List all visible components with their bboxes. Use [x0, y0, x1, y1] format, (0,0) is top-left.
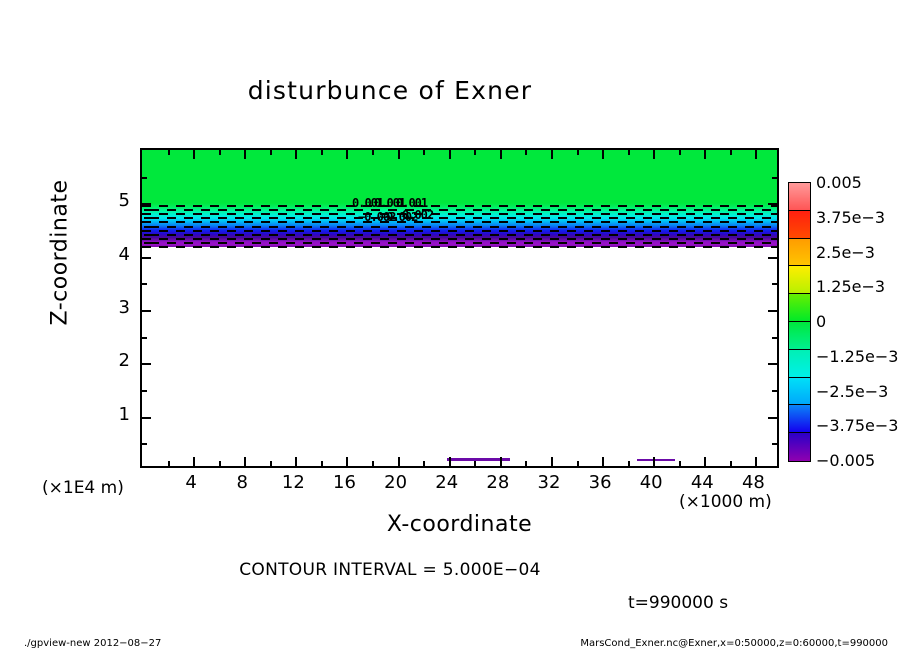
colorbar-tick-label: 0	[816, 312, 826, 331]
colorbar-band	[789, 266, 810, 294]
y-tick-left	[142, 257, 151, 259]
y-tick-right	[772, 390, 777, 392]
x-tick-label: 12	[273, 472, 313, 493]
colorbar-band	[789, 433, 810, 461]
contour-line	[142, 238, 777, 240]
x-tick-top	[755, 150, 757, 159]
x-tick-bottom	[270, 461, 272, 466]
x-tick-top	[244, 150, 246, 159]
x-tick-label: 44	[682, 472, 722, 493]
colorbar-band	[789, 239, 810, 267]
x-tick-bottom	[602, 457, 604, 466]
x-tick-top	[628, 150, 630, 155]
field-region-uniform	[142, 150, 777, 203]
y-tick-label: 3	[100, 297, 130, 318]
x-tick-top	[193, 150, 195, 159]
colorbar-band	[789, 350, 810, 378]
x-tick-label: 4	[171, 472, 211, 493]
x-tick-bottom	[551, 457, 553, 466]
y-tick-label: 2	[100, 350, 130, 371]
y-axis-label: Z-coordinate	[48, 153, 73, 353]
x-tick-bottom	[653, 457, 655, 466]
footer-source: MarsCond_Exner.nc@Exner,x=0:50000,z=0:60…	[580, 638, 888, 649]
contour-line	[142, 213, 777, 215]
x-tick-top	[270, 150, 272, 155]
colorbar-band	[789, 183, 810, 211]
plot-area[interactable]: 0.0010.0010.001−0.002−0.0020.002	[140, 148, 779, 468]
y-tick-left	[142, 310, 151, 312]
x-tick-bottom	[193, 457, 195, 466]
contour-line	[142, 234, 777, 236]
x-tick-top	[295, 150, 297, 159]
x-tick-top	[346, 150, 348, 159]
y-tick-left	[142, 283, 147, 285]
x-tick-bottom	[704, 457, 706, 466]
y-tick-right	[772, 177, 777, 179]
x-tick-label: 32	[529, 472, 569, 493]
x-tick-top	[551, 150, 553, 159]
x-tick-top	[577, 150, 579, 155]
contour-line	[142, 242, 777, 244]
contour-line	[142, 209, 777, 211]
x-tick-top	[219, 150, 221, 155]
timestamp-text: t=990000 s	[628, 593, 728, 613]
x-tick-top	[653, 150, 655, 159]
x-tick-bottom	[398, 457, 400, 466]
contour-line	[142, 221, 777, 223]
x-axis-unit: (×1000 m)	[679, 492, 772, 512]
x-tick-bottom	[577, 461, 579, 466]
colorbar-tick-label: −3.75e−3	[816, 416, 898, 435]
y-tick-label: 5	[100, 190, 130, 211]
x-tick-bottom	[474, 461, 476, 466]
contour-line	[142, 217, 777, 219]
x-tick-top	[423, 150, 425, 155]
x-tick-bottom	[295, 457, 297, 466]
colorbar-tick-label: 1.25e−3	[816, 277, 885, 296]
x-tick-top	[525, 150, 527, 155]
colorbar-band	[789, 322, 810, 350]
x-tick-bottom	[730, 461, 732, 466]
y-tick-left	[142, 363, 151, 365]
x-tick-label: 48	[733, 472, 773, 493]
x-tick-bottom	[628, 461, 630, 466]
x-tick-top	[500, 150, 502, 159]
x-tick-bottom	[679, 461, 681, 466]
x-tick-bottom	[372, 461, 374, 466]
x-tick-label: 20	[376, 472, 416, 493]
y-tick-left	[142, 203, 151, 205]
colorbar-band	[789, 211, 810, 239]
colorbar-tick-label: −2.5e−3	[816, 382, 888, 401]
contour-interval-text: CONTOUR INTERVAL = 5.000E−04	[0, 560, 780, 580]
x-tick-bottom	[168, 461, 170, 466]
y-tick-label: 1	[100, 404, 130, 425]
colorbar[interactable]	[788, 182, 811, 462]
page-title: disturbunce of Exner	[0, 76, 780, 105]
colorbar-tick-label: 2.5e−3	[816, 243, 875, 262]
y-tick-left	[142, 230, 147, 232]
x-tick-top	[168, 150, 170, 155]
y-tick-right	[768, 203, 777, 205]
y-tick-right	[772, 337, 777, 339]
y-tick-right	[768, 310, 777, 312]
y-tick-right	[772, 283, 777, 285]
surface-bump-b	[637, 459, 675, 461]
x-tick-top	[449, 150, 451, 159]
x-tick-label: 28	[478, 472, 518, 493]
x-tick-bottom	[525, 461, 527, 466]
x-tick-bottom	[244, 457, 246, 466]
y-tick-left	[142, 337, 147, 339]
x-tick-bottom	[346, 457, 348, 466]
y-tick-right	[768, 417, 777, 419]
x-tick-top	[398, 150, 400, 159]
colorbar-tick-label: −0.005	[816, 451, 875, 470]
x-tick-top	[730, 150, 732, 155]
x-tick-label: 8	[222, 472, 262, 493]
x-tick-label: 16	[324, 472, 364, 493]
x-tick-bottom	[321, 461, 323, 466]
colorbar-band	[789, 294, 810, 322]
x-tick-top	[474, 150, 476, 155]
x-tick-bottom	[219, 461, 221, 466]
colorbar-tick-label: 0.005	[816, 173, 862, 192]
y-tick-right	[768, 257, 777, 259]
y-tick-right	[772, 230, 777, 232]
x-tick-top	[679, 150, 681, 155]
y-tick-left	[142, 443, 147, 445]
x-tick-bottom	[449, 457, 451, 466]
y-tick-left	[142, 390, 147, 392]
colorbar-tick-label: 3.75e−3	[816, 208, 885, 227]
colorbar-band	[789, 405, 810, 433]
x-tick-bottom	[423, 461, 425, 466]
y-tick-label: 4	[100, 244, 130, 265]
footer-command: ./gpview-new 2012−08−27	[24, 638, 161, 649]
y-tick-right	[768, 363, 777, 365]
contour-line	[142, 230, 777, 232]
colorbar-tick-label: −1.25e−3	[816, 347, 898, 366]
x-tick-label: 24	[427, 472, 467, 493]
x-tick-top	[704, 150, 706, 159]
colorbar-band	[789, 378, 810, 406]
x-tick-top	[321, 150, 323, 155]
x-tick-label: 36	[580, 472, 620, 493]
contour-line	[142, 246, 777, 248]
x-tick-top	[602, 150, 604, 159]
contour-line	[142, 226, 777, 228]
contour-line	[142, 205, 777, 207]
x-axis-label: X-coordinate	[140, 512, 779, 537]
x-tick-label: 40	[631, 472, 671, 493]
x-tick-top	[372, 150, 374, 155]
y-axis-unit: (×1E4 m)	[42, 478, 124, 498]
x-tick-bottom	[500, 457, 502, 466]
y-tick-left	[142, 417, 151, 419]
x-tick-bottom	[755, 457, 757, 466]
y-tick-left	[142, 177, 147, 179]
y-tick-right	[772, 443, 777, 445]
